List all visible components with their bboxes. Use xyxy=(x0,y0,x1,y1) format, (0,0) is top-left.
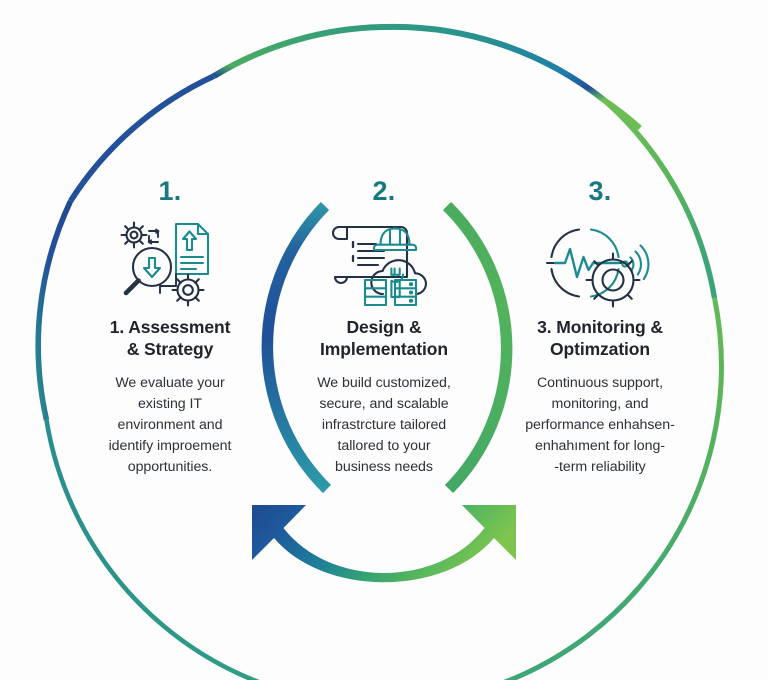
step-title-3: 3. Monitoring & Optimzation xyxy=(508,317,692,361)
step-body-3: Continuous support, monitoring, and perf… xyxy=(508,373,692,478)
document-icon xyxy=(176,224,208,274)
step-title-1: 1. Assessment & Strategy xyxy=(82,317,258,361)
wifi-signal-icon xyxy=(622,246,648,280)
cycle-double-arrow xyxy=(252,505,516,582)
step-number-2: 2. xyxy=(296,178,472,205)
pulse-line-icon xyxy=(555,249,619,277)
step-number-3: 3. xyxy=(508,178,692,205)
gear-medium-icon xyxy=(173,275,204,306)
step-title-2: Design & Implementation xyxy=(296,317,472,361)
step-body-1: We evaluate your existing IT environment… xyxy=(82,373,258,478)
gear-large-icon xyxy=(587,254,640,307)
design-blueprint-hardhat-cloud-server-icon xyxy=(296,217,472,309)
infographic-canvas: 1. xyxy=(0,0,768,680)
monitoring-pulse-wifi-gear-icon xyxy=(508,217,692,309)
step-number-1: 1. xyxy=(82,178,258,205)
assessment-magnifier-gears-document-icon xyxy=(82,217,258,309)
step-column-2: 2. xyxy=(296,178,472,478)
wrench-icon xyxy=(391,269,403,297)
hard-hat-icon xyxy=(374,229,416,251)
step-column-3: 3. xyxy=(508,178,692,478)
step-column-1: 1. xyxy=(82,178,258,478)
gear-small-icon xyxy=(122,223,147,248)
step-body-2: We build customized, secure, and scalabl… xyxy=(296,373,472,478)
